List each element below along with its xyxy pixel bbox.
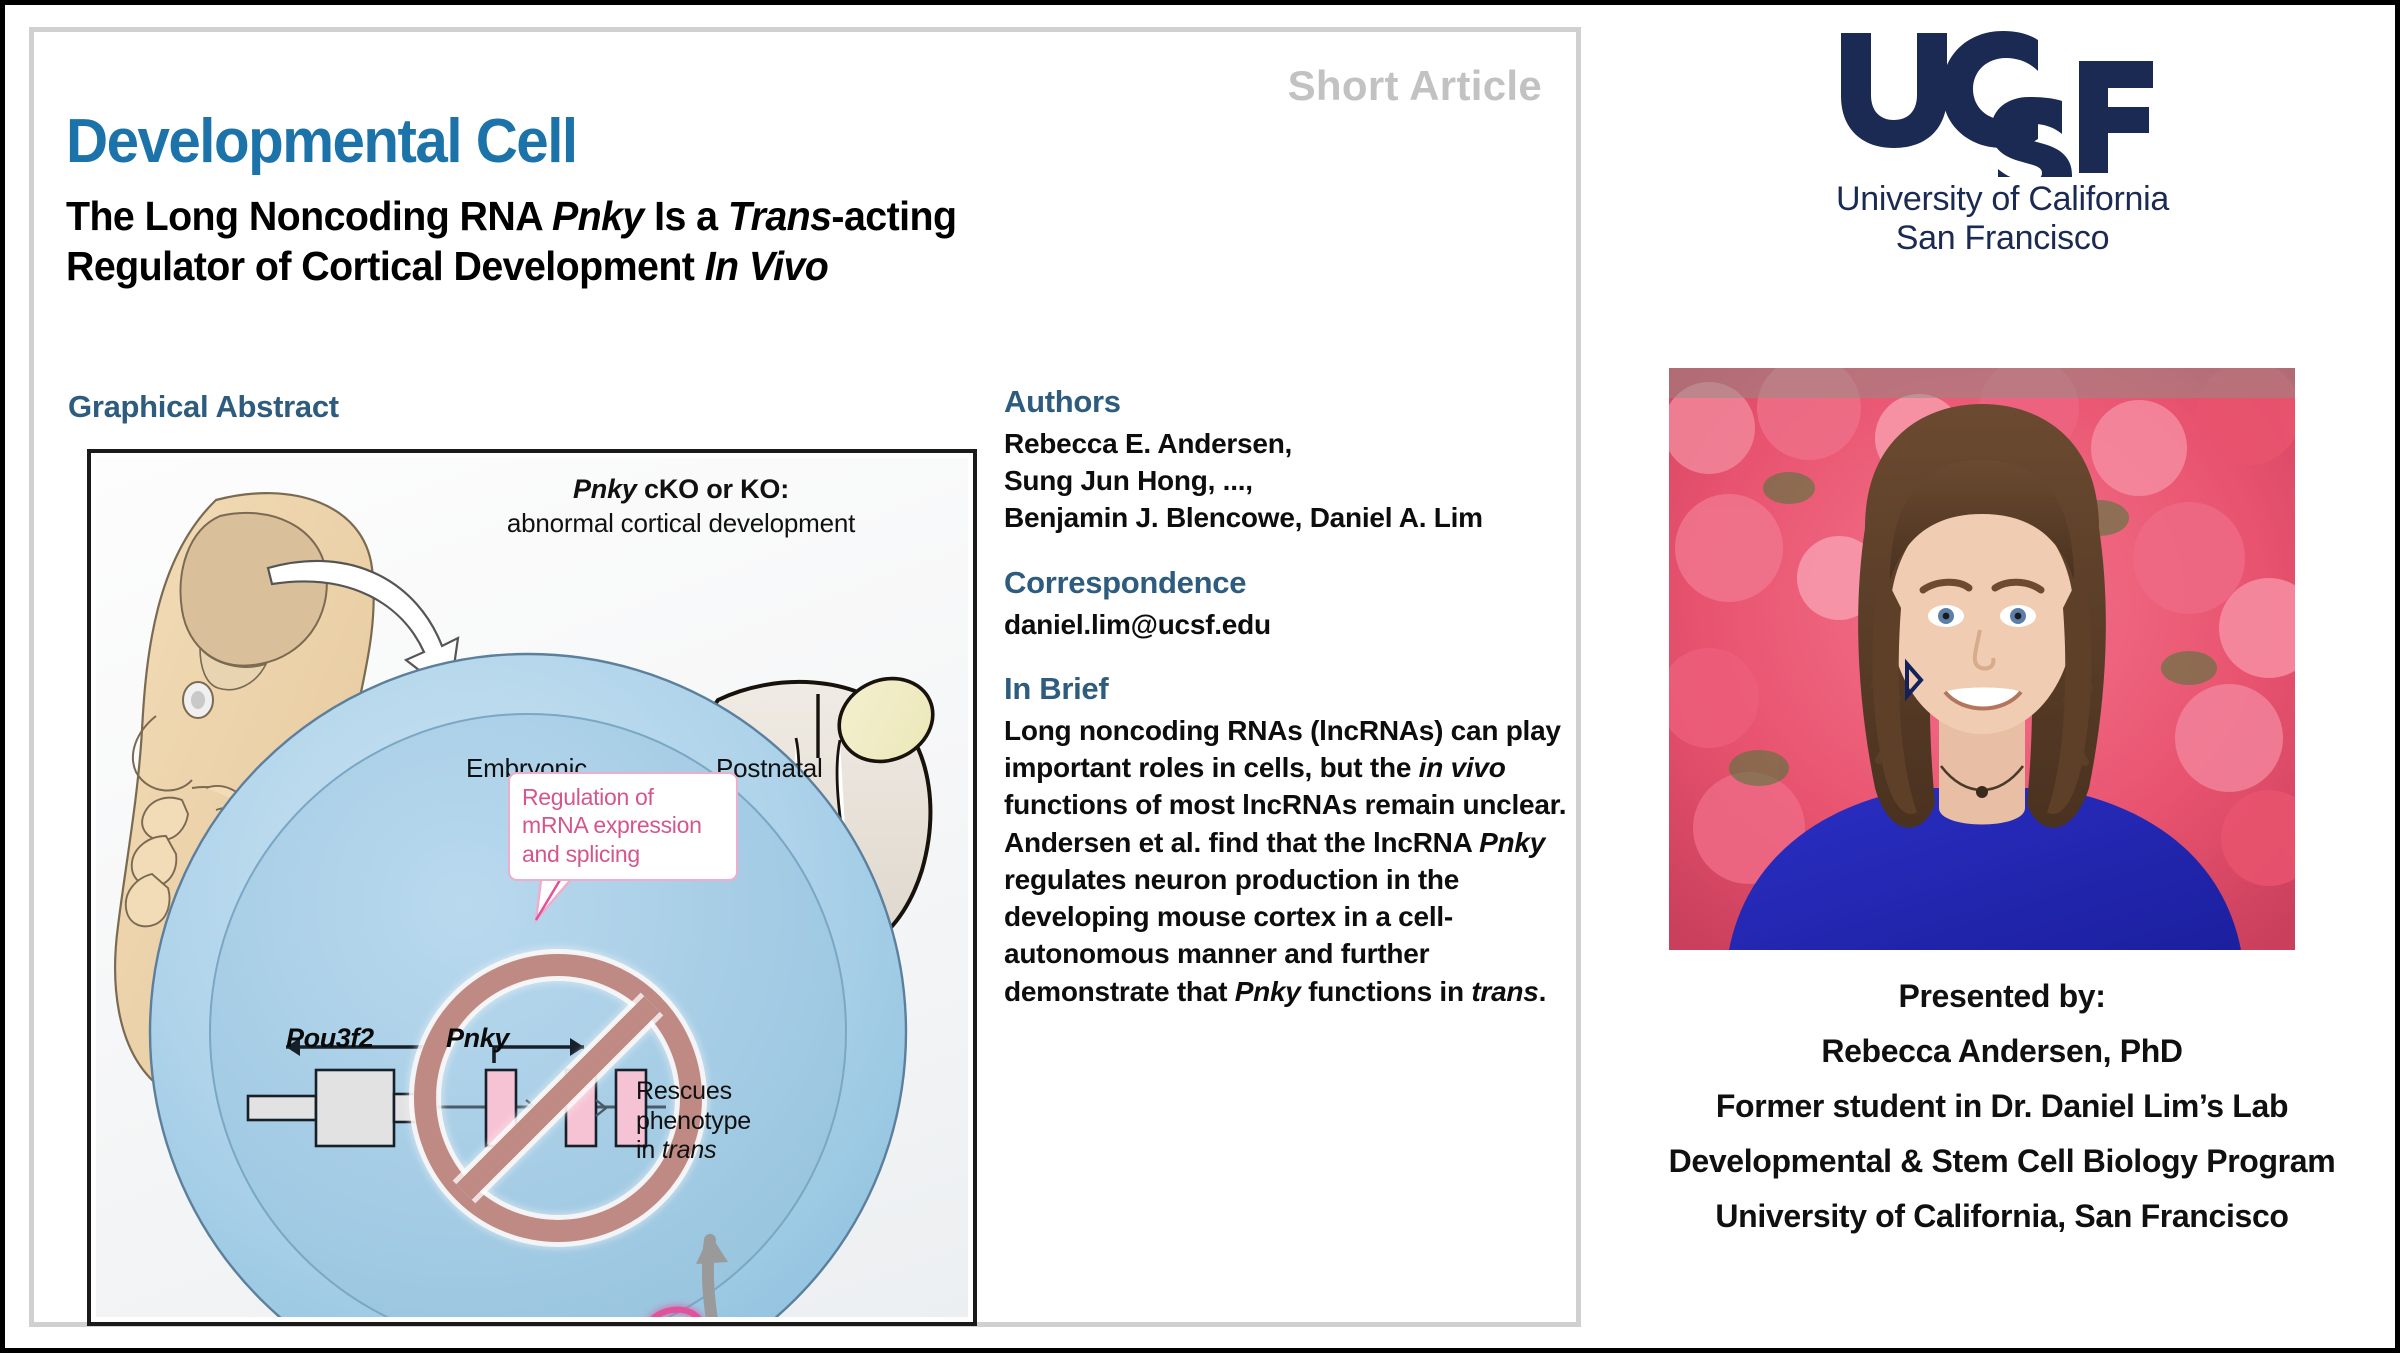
journal-article-card: Short Article Developmental Cell The Lon… bbox=[29, 27, 1581, 1327]
ucsf-sub-line: University of California bbox=[1605, 180, 2400, 219]
short-article-badge: Short Article bbox=[1288, 62, 1542, 110]
title-part: Is a bbox=[644, 193, 728, 239]
presenter-panel: University of California San Francisco bbox=[1605, 5, 2400, 1348]
authors-heading: Authors bbox=[1004, 384, 1594, 420]
rescue-annotation: Rescues phenotype in trans bbox=[636, 1077, 751, 1166]
brief-part: . bbox=[1539, 976, 1547, 1007]
brief-part: functions in bbox=[1301, 976, 1472, 1007]
title-italic-trans: Trans bbox=[728, 193, 832, 239]
brief-italic-trans: trans bbox=[1471, 976, 1538, 1007]
brief-italic-pnky1: Pnky bbox=[1479, 827, 1545, 858]
presenter-headshot bbox=[1669, 368, 2295, 950]
in-brief-text: Long noncoding RNAs (lncRNAs) can play i… bbox=[1004, 712, 1594, 1010]
title-part: The Long Noncoding RNA bbox=[66, 193, 552, 239]
author-line: Rebecca E. Andersen, bbox=[1004, 425, 1594, 462]
bubble-line: and splicing bbox=[522, 840, 725, 868]
regulation-callout-bubble: Regulation of mRNA expression and splici… bbox=[508, 772, 738, 881]
rescue-line: in trans bbox=[636, 1136, 751, 1166]
ucsf-logo-subtitle: University of California San Francisco bbox=[1605, 180, 2400, 259]
presenter-name: Rebecca Andersen, PhD bbox=[1597, 1035, 2400, 1067]
graphical-abstract-heading: Graphical Abstract bbox=[68, 389, 339, 425]
title-part: Regulator of Cortical Development bbox=[66, 243, 705, 289]
gene-label-pou3f2: Pou3f2 bbox=[286, 1023, 374, 1054]
ucsf-logo bbox=[1605, 27, 2400, 182]
journal-title: Developmental Cell bbox=[66, 106, 577, 177]
figure-caption-primary: Pnky cKO or KO: bbox=[431, 474, 931, 505]
caption-rest: cKO or KO: bbox=[637, 474, 789, 504]
presenter-credits: Presented by: Rebecca Andersen, PhD Form… bbox=[1597, 980, 2400, 1255]
presented-by-label: Presented by: bbox=[1597, 980, 2400, 1012]
brief-italic-pnky2: Pnky bbox=[1235, 976, 1301, 1007]
title-italic-invivo: In Vivo bbox=[705, 243, 829, 289]
presenter-program: Developmental & Stem Cell Biology Progra… bbox=[1597, 1145, 2400, 1177]
gene-label-pnky: Pnky bbox=[446, 1023, 509, 1054]
title-italic-pnky: Pnky bbox=[552, 193, 644, 239]
figure-caption-secondary: abnormal cortical development bbox=[416, 508, 946, 539]
authors-list: Rebecca E. Andersen, Sung Jun Hong, ...,… bbox=[1004, 425, 1594, 537]
title-part: -acting bbox=[831, 193, 956, 239]
bubble-line: Regulation of bbox=[522, 783, 725, 811]
author-line: Sung Jun Hong, ..., bbox=[1004, 462, 1594, 499]
ucsf-sub-line: San Francisco bbox=[1605, 219, 2400, 258]
presenter-role: Former student in Dr. Daniel Lim’s Lab bbox=[1597, 1090, 2400, 1122]
rescue-line: Rescues bbox=[636, 1077, 751, 1107]
bubble-line: mRNA expression bbox=[522, 811, 725, 839]
correspondence-email[interactable]: daniel.lim@ucsf.edu bbox=[1004, 606, 1594, 643]
in-brief-heading: In Brief bbox=[1004, 671, 1594, 707]
spacer bbox=[1004, 643, 1594, 671]
ucsf-wordmark-icon bbox=[1833, 27, 2173, 177]
rescue-italic-trans: trans bbox=[662, 1136, 717, 1164]
figure-illustration bbox=[96, 458, 968, 1317]
figure-canvas: Pnky cKO or KO: abnormal cortical develo… bbox=[96, 458, 968, 1317]
caption-italic-pnky: Pnky bbox=[573, 474, 637, 504]
slide-root: Short Article Developmental Cell The Lon… bbox=[0, 0, 2400, 1353]
article-meta-column: Authors Rebecca E. Andersen, Sung Jun Ho… bbox=[1004, 384, 1594, 1010]
graphical-abstract-figure: Pnky cKO or KO: abnormal cortical develo… bbox=[87, 449, 977, 1326]
spacer bbox=[1004, 537, 1594, 565]
brief-italic-invivo: in vivo bbox=[1419, 752, 1506, 783]
correspondence-heading: Correspondence bbox=[1004, 565, 1594, 601]
rescue-prefix: in bbox=[636, 1136, 662, 1164]
headshot-image bbox=[1669, 368, 2295, 950]
author-line: Benjamin J. Blencowe, Daniel A. Lim bbox=[1004, 499, 1594, 536]
article-title: The Long Noncoding RNA Pnky Is a Trans-a… bbox=[66, 192, 1410, 291]
presenter-affiliation: University of California, San Francisco bbox=[1597, 1200, 2400, 1232]
rescue-line: phenotype bbox=[636, 1107, 751, 1137]
